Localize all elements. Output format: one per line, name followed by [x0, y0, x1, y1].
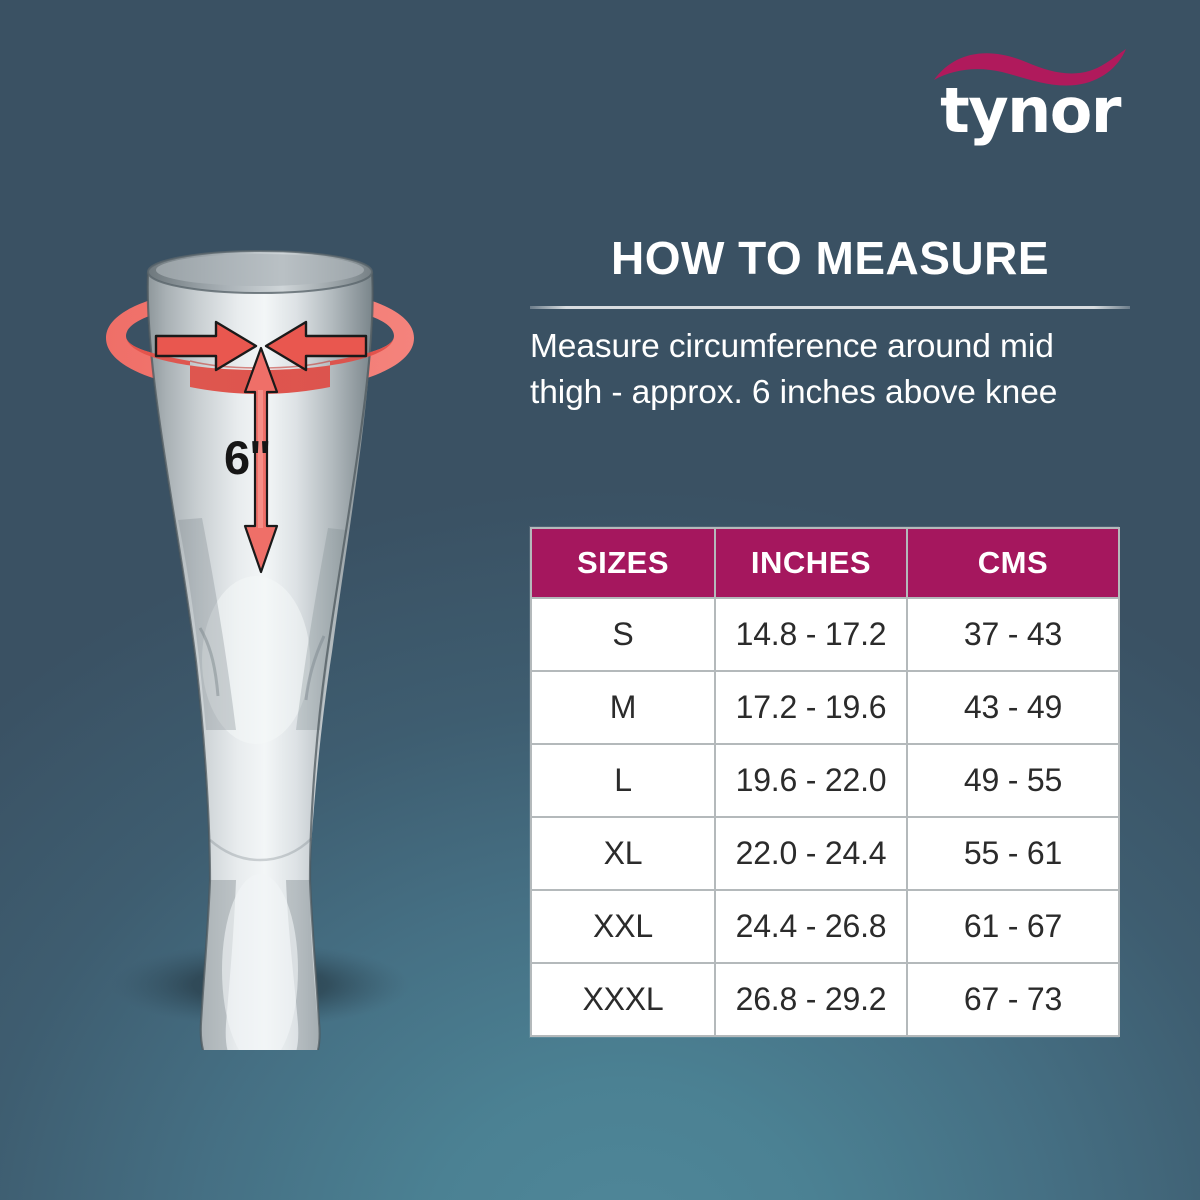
cell-inches: 24.4 - 26.8 — [715, 890, 907, 963]
brand-logo: tynor — [930, 40, 1130, 160]
size-chart-table: SIZES INCHES CMS S 14.8 - 17.2 37 - 43 M… — [530, 527, 1120, 1037]
instruction-line-2: thigh - approx. 6 inches above knee — [530, 370, 1132, 416]
size-chart-body: S 14.8 - 17.2 37 - 43 M 17.2 - 19.6 43 -… — [531, 598, 1119, 1036]
table-header-row: SIZES INCHES CMS — [531, 528, 1119, 598]
size-chart-container: SIZES INCHES CMS S 14.8 - 17.2 37 - 43 M… — [530, 527, 1118, 1037]
cell-size: XXXL — [531, 963, 715, 1036]
table-row: XXL 24.4 - 26.8 61 - 67 — [531, 890, 1119, 963]
cell-cms: 49 - 55 — [907, 744, 1119, 817]
leg-illustration-svg — [60, 230, 480, 1050]
cell-cms: 43 - 49 — [907, 671, 1119, 744]
cell-inches: 17.2 - 19.6 — [715, 671, 907, 744]
page-title: HOW TO MEASURE — [530, 234, 1130, 282]
measure-instructions: Measure circumference around mid thigh -… — [530, 324, 1132, 415]
distance-label: 6" — [224, 434, 270, 481]
poster-canvas: 6" tynor HOW TO MEASURE Measure circumfe… — [0, 0, 1200, 1200]
cell-inches: 22.0 - 24.4 — [715, 817, 907, 890]
cell-cms: 67 - 73 — [907, 963, 1119, 1036]
cell-size: L — [531, 744, 715, 817]
cell-inches: 26.8 - 29.2 — [715, 963, 907, 1036]
brand-wordmark: tynor — [930, 80, 1130, 142]
column-header-inches: INCHES — [715, 528, 907, 598]
cell-size: S — [531, 598, 715, 671]
table-row: M 17.2 - 19.6 43 - 49 — [531, 671, 1119, 744]
cell-inches: 14.8 - 17.2 — [715, 598, 907, 671]
table-row: L 19.6 - 22.0 49 - 55 — [531, 744, 1119, 817]
leg-measurement-illustration — [60, 230, 480, 1050]
cell-cms: 61 - 67 — [907, 890, 1119, 963]
column-header-sizes: SIZES — [531, 528, 715, 598]
table-row: XXXL 26.8 - 29.2 67 - 73 — [531, 963, 1119, 1036]
instruction-line-1: Measure circumference around mid — [530, 324, 1132, 370]
cell-inches: 19.6 - 22.0 — [715, 744, 907, 817]
column-header-cms: CMS — [907, 528, 1119, 598]
table-row: S 14.8 - 17.2 37 - 43 — [531, 598, 1119, 671]
cell-size: XXL — [531, 890, 715, 963]
cell-cms: 37 - 43 — [907, 598, 1119, 671]
cell-cms: 55 - 61 — [907, 817, 1119, 890]
cell-size: XL — [531, 817, 715, 890]
cell-size: M — [531, 671, 715, 744]
size-chart-head: SIZES INCHES CMS — [531, 528, 1119, 598]
title-divider — [530, 306, 1130, 309]
table-row: XL 22.0 - 24.4 55 - 61 — [531, 817, 1119, 890]
